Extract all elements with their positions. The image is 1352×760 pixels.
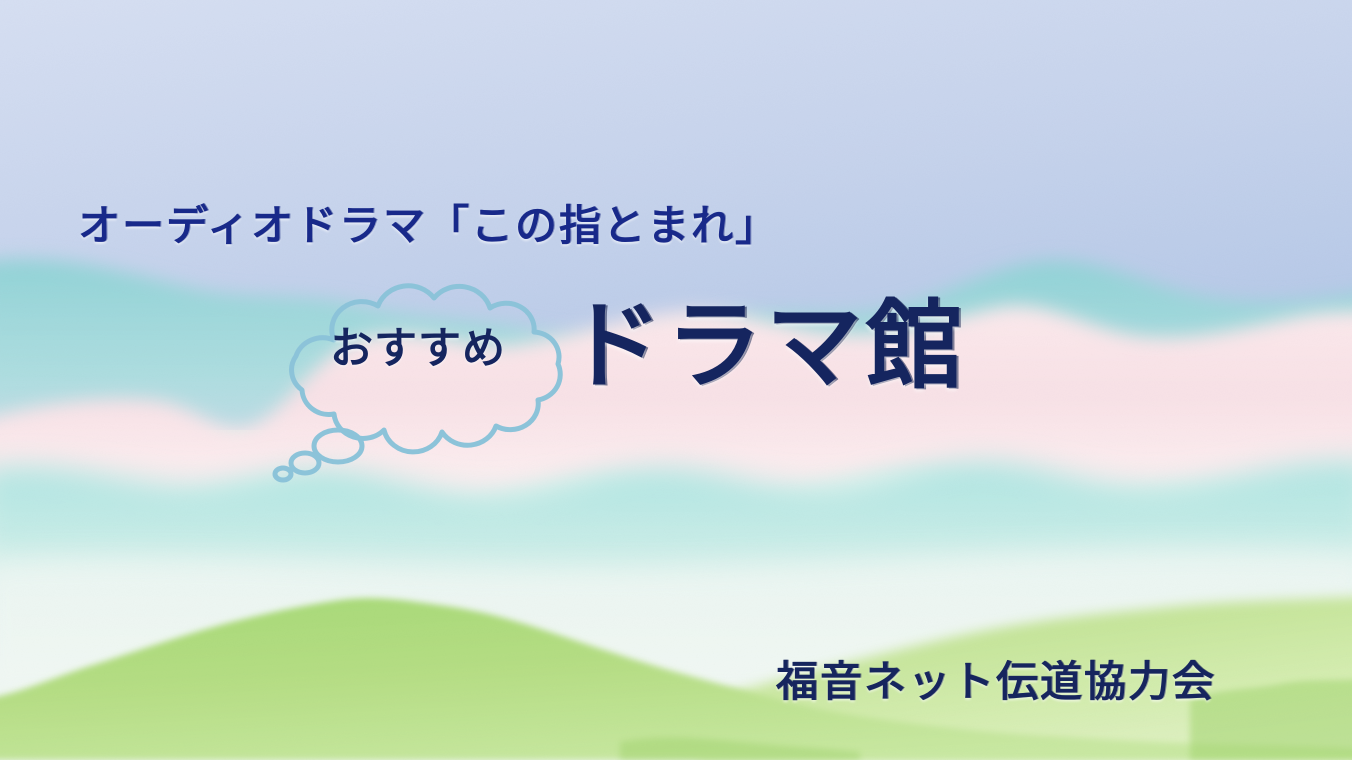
recommended-badge-label: おすすめ [330,314,506,376]
poster-canvas: オーディオドラマ「この指とまれ」 おすすめ ドラマ館 福音ネット伝道協力会 [0,0,1352,760]
thought-bubble-icon [272,280,592,480]
brand-name: ドラマ館 [566,298,966,394]
organization-name: 福音ネット伝道協力会 [776,648,1216,709]
thought-bubble [272,280,592,480]
program-title: オーディオドラマ「この指とまれ」 [78,192,779,253]
